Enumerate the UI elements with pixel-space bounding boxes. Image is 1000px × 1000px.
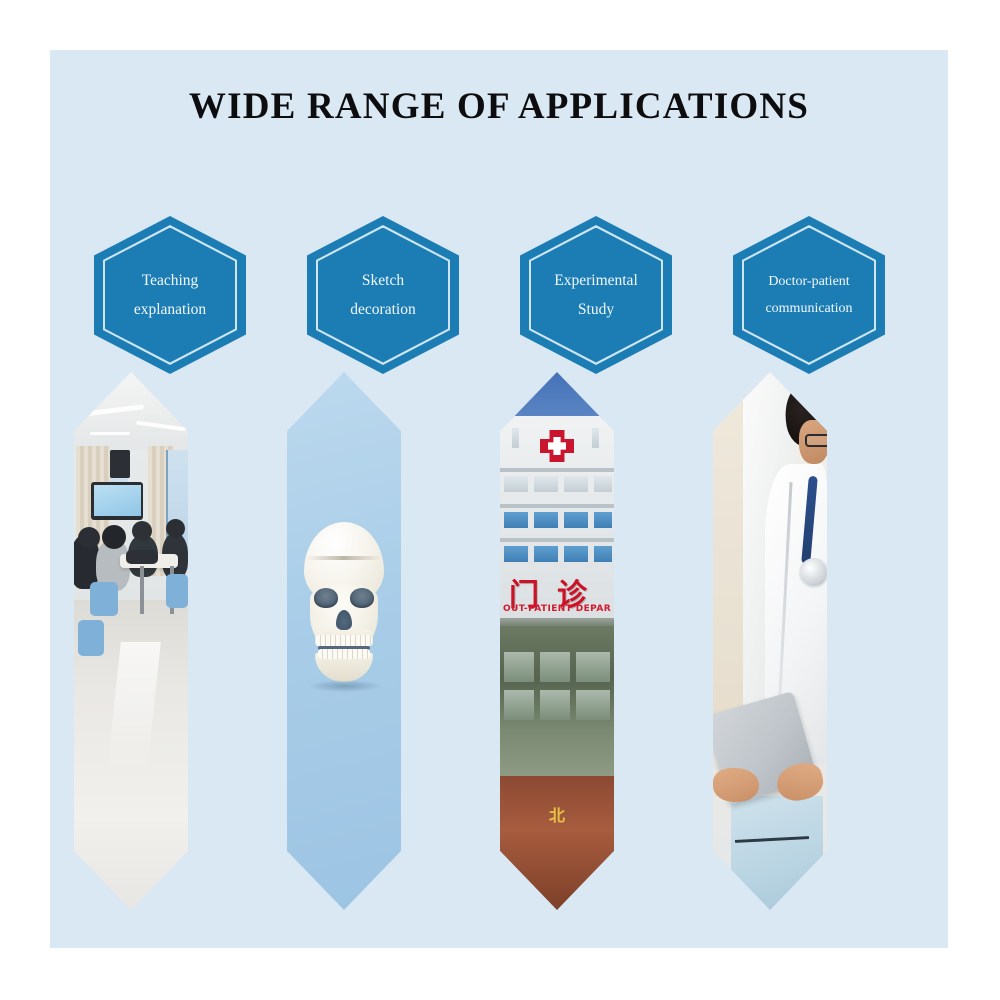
facade-window xyxy=(512,428,519,448)
hex-label-line2: Study xyxy=(578,302,614,318)
glass-panel xyxy=(540,690,570,720)
hex-label-line2: explanation xyxy=(134,302,206,318)
hex-label-line2: communication xyxy=(765,302,852,316)
hex-label-line1: Doctor-patient xyxy=(768,275,849,289)
image-panel-doctor-patient-communication xyxy=(713,372,827,910)
facade-window xyxy=(594,546,612,562)
facade-window xyxy=(504,512,528,528)
poster-root: WIDE RANGE OF APPLICATIONS Teaching expl… xyxy=(0,0,1000,1000)
facade-window xyxy=(534,476,558,492)
facade-window xyxy=(564,476,588,492)
whiteboard-screen xyxy=(94,485,141,516)
chair xyxy=(90,582,118,616)
glass-panel xyxy=(576,690,610,720)
red-cross-emblem xyxy=(540,430,574,462)
lower-floors xyxy=(500,626,614,776)
hospital-base-mark: 北 xyxy=(500,802,614,826)
facade-window xyxy=(592,428,599,448)
skull-eye-socket-right xyxy=(350,588,374,608)
eyeglasses-icon xyxy=(805,434,827,447)
facade-window xyxy=(594,512,612,528)
image-panel-experimental-study: 门诊 OUT-PATIENT DEPAR 北 xyxy=(500,372,614,910)
chair xyxy=(78,620,104,656)
bag-on-table xyxy=(126,550,158,564)
skull-lower-teeth xyxy=(318,649,370,659)
student-head xyxy=(132,521,152,541)
hand-left xyxy=(713,768,759,802)
image-panel-teaching-explanation xyxy=(74,372,188,910)
hospital-sign-english: OUT-PATIENT DEPAR xyxy=(500,604,614,614)
facade-window xyxy=(504,476,528,492)
facade-window xyxy=(594,476,612,492)
floor-band xyxy=(500,504,614,508)
classroom-photo xyxy=(74,372,188,910)
skull-upper-teeth xyxy=(316,635,372,646)
glass-panel xyxy=(576,652,610,682)
student-head xyxy=(78,527,100,549)
ceiling-light xyxy=(90,432,130,435)
facade-window xyxy=(534,546,558,562)
doctor-photo xyxy=(713,372,827,910)
skull-drop-shadow xyxy=(309,680,381,692)
stethoscope-bell xyxy=(799,558,827,588)
glass-panel xyxy=(540,652,570,682)
chair xyxy=(166,574,188,608)
ceiling-speaker xyxy=(110,450,130,478)
image-panel-sketch-decoration xyxy=(287,372,401,910)
student-head xyxy=(166,519,185,538)
floor-band xyxy=(500,538,614,542)
facade-window xyxy=(504,546,528,562)
hex-label-line2: decoration xyxy=(350,302,415,318)
hospital-building-photo: 门诊 OUT-PATIENT DEPAR 北 xyxy=(500,372,614,910)
page-title: WIDE RANGE OF APPLICATIONS xyxy=(50,85,948,128)
skull-nasal-cavity xyxy=(336,610,352,630)
student-head xyxy=(102,525,126,549)
glass-panel xyxy=(504,690,534,720)
hex-label-line1: Experimental xyxy=(554,273,638,289)
floor-band xyxy=(500,468,614,472)
skull-figure xyxy=(287,522,401,782)
hex-label-line1: Teaching xyxy=(142,273,199,289)
skull-eye-socket-left xyxy=(314,588,338,608)
hex-label-line1: Sketch xyxy=(362,273,404,289)
facade-window xyxy=(564,546,588,562)
skull-suture-line xyxy=(307,556,381,560)
skull-model-photo xyxy=(287,372,401,910)
facade-window xyxy=(534,512,558,528)
facade-window xyxy=(564,512,588,528)
glass-panel xyxy=(504,652,534,682)
